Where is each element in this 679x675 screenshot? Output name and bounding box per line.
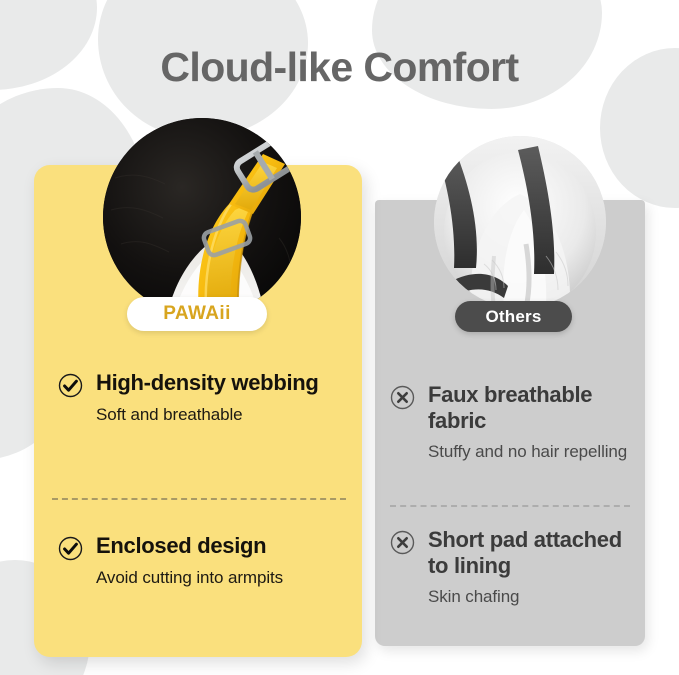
check-icon xyxy=(58,536,83,561)
infographic-canvas: Cloud-like Comfort xyxy=(0,0,679,675)
cross-icon xyxy=(390,530,415,555)
others-badge-label: Others xyxy=(486,307,542,327)
pawaii-product-photo xyxy=(103,118,301,316)
others-brand-badge: Others xyxy=(455,301,572,332)
others-feature-title-1: Faux breathable fabric xyxy=(428,382,640,433)
others-feature-item-2: Short pad attached to lining Skin chafin… xyxy=(390,527,640,607)
page-title: Cloud-like Comfort xyxy=(0,44,679,91)
pawaii-feature-divider xyxy=(52,498,346,500)
others-feature-subtitle-2: Skin chafing xyxy=(428,587,640,607)
pawaii-feature-item-1: High-density webbing Soft and breathable xyxy=(58,370,348,425)
pawaii-feature-item-2: Enclosed design Avoid cutting into armpi… xyxy=(58,533,348,588)
pawaii-feature-title-2: Enclosed design xyxy=(96,533,283,559)
pawaii-feature-subtitle-1: Soft and breathable xyxy=(96,405,319,425)
pawaii-badge-label: PAWAii xyxy=(163,303,231,325)
others-feature-subtitle-1: Stuffy and no hair repelling xyxy=(428,442,640,462)
others-feature-divider xyxy=(390,505,630,507)
others-product-photo xyxy=(434,136,606,308)
pawaii-feature-title-1: High-density webbing xyxy=(96,370,319,396)
others-feature-item-1: Faux breathable fabric Stuffy and no hai… xyxy=(390,382,640,462)
check-icon xyxy=(58,373,83,398)
cross-icon xyxy=(390,385,415,410)
pawaii-brand-badge: PAWAii xyxy=(127,297,267,331)
others-feature-title-2: Short pad attached to lining xyxy=(428,527,640,578)
pawaii-feature-subtitle-2: Avoid cutting into armpits xyxy=(96,568,283,588)
